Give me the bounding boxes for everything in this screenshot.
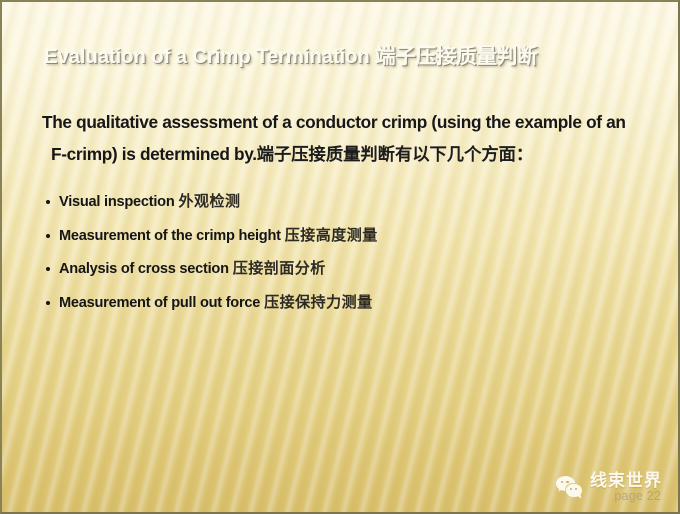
list-item: Measurement of the crimp height压接高度测量 bbox=[46, 226, 566, 246]
slide-canvas: Evaluation of a Crimp Termination 端子压接质量… bbox=[0, 0, 680, 514]
watermark-text-block: 线束世界 page 22 bbox=[590, 472, 662, 503]
slide-title-bar: Evaluation of a Crimp Termination 端子压接质量… bbox=[44, 42, 648, 76]
intro-paragraph-line-2: F-crimp) is determined by.端子压接质量判断有以下几个方… bbox=[42, 138, 652, 170]
footer-watermark: 线束世界 page 22 bbox=[556, 472, 662, 503]
list-item-chinese: 压接高度测量 bbox=[285, 227, 378, 244]
bullet-dot-icon bbox=[46, 301, 50, 305]
list-item-english: Measurement of the crimp height bbox=[59, 228, 281, 244]
intro-paragraph: The qualitative assessment of a conducto… bbox=[42, 106, 652, 170]
list-item: Measurement of pull out force压接保持力测量 bbox=[46, 293, 566, 313]
list-item-chinese: 压接剖面分析 bbox=[233, 260, 326, 277]
bullet-list: Visual inspection外观检测 Measurement of the… bbox=[46, 192, 566, 326]
list-item-chinese: 压接保持力测量 bbox=[264, 294, 373, 311]
list-item-english: Analysis of cross section bbox=[59, 261, 229, 277]
list-item-english: Measurement of pull out force bbox=[59, 295, 260, 311]
page-title: Evaluation of a Crimp Termination 端子压接质量… bbox=[44, 42, 648, 72]
wechat-account-name: 线束世界 bbox=[590, 472, 662, 489]
intro-paragraph-line-1: The qualitative assessment of a conducto… bbox=[42, 112, 626, 132]
bullet-dot-icon bbox=[46, 200, 50, 204]
list-item-english: Visual inspection bbox=[59, 194, 175, 210]
wechat-icon-eye bbox=[570, 488, 572, 490]
wechat-icon bbox=[556, 476, 584, 500]
intro-paragraph-line-2-chinese: 端子压接质量判断有以下几个方面： bbox=[257, 144, 534, 164]
bullet-dot-icon bbox=[46, 234, 50, 238]
wechat-icon-bubble-large-tail bbox=[558, 488, 563, 493]
list-item: Visual inspection外观检测 bbox=[46, 192, 566, 212]
list-item: Analysis of cross section压接剖面分析 bbox=[46, 259, 566, 279]
list-item-chinese: 外观检测 bbox=[179, 193, 241, 210]
intro-paragraph-line-2-english: F-crimp) is determined by. bbox=[51, 144, 257, 164]
wechat-icon-bubble-small-tail bbox=[577, 494, 582, 499]
bullet-dot-icon bbox=[46, 267, 50, 271]
wechat-icon-eye bbox=[561, 481, 563, 483]
page-number: page 22 bbox=[614, 490, 661, 503]
wechat-icon-eye bbox=[566, 481, 568, 483]
